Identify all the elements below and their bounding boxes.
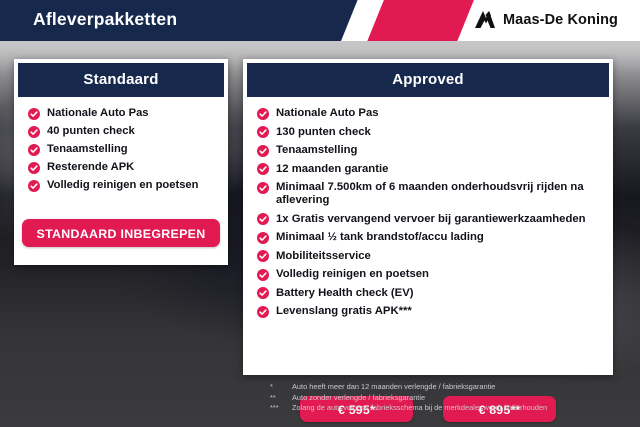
list-item: Resterende APK bbox=[28, 161, 216, 174]
list-item: Nationale Auto Pas bbox=[28, 107, 216, 120]
check-circle-icon bbox=[257, 145, 269, 157]
list-item: Levenslang gratis APK*** bbox=[257, 305, 601, 318]
footnote-double-asterisk: ** Auto zonder verlengde / fabrieksgaran… bbox=[270, 393, 620, 404]
footnote-marker: *** bbox=[270, 403, 292, 414]
feature-label: 12 maanden garantie bbox=[276, 163, 388, 176]
brand-logo: Maas-De Koning bbox=[474, 10, 618, 29]
check-circle-icon bbox=[28, 144, 40, 156]
maas-m-logo-icon bbox=[474, 10, 496, 29]
card-body-standaard: Nationale Auto Pas 40 punten check Tenaa… bbox=[14, 97, 228, 192]
footnote-triple-asterisk: *** Zolang de auto volgens fabrieksschem… bbox=[270, 403, 620, 414]
feature-label: Volledig reinigen en poetsen bbox=[47, 179, 198, 192]
footnote-text: Auto heeft meer dan 12 maanden verlengde… bbox=[292, 382, 495, 393]
feature-label: Minimaal ½ tank brandstof/accu lading bbox=[276, 231, 484, 244]
page-header: Afleverpakketten Maas-De Koning bbox=[0, 0, 640, 41]
footnote-text: Zolang de auto volgens fabrieksschema bi… bbox=[292, 403, 547, 414]
check-circle-icon bbox=[257, 232, 269, 244]
footnotes: * Auto heeft meer dan 12 maanden verleng… bbox=[270, 382, 620, 414]
list-item: Minimaal 7.500km of 6 maanden onderhouds… bbox=[257, 181, 601, 207]
feature-label: Nationale Auto Pas bbox=[276, 107, 379, 120]
check-circle-icon bbox=[28, 162, 40, 174]
check-circle-icon bbox=[257, 250, 269, 262]
feature-label: Battery Health check (EV) bbox=[276, 287, 414, 300]
feature-label: 130 punten check bbox=[276, 126, 371, 139]
feature-label: Levenslang gratis APK*** bbox=[276, 305, 412, 318]
footnote-text: Auto zonder verlengde / fabrieksgarantie bbox=[292, 393, 425, 404]
page-root: Afleverpakketten Maas-De Koning Standaar… bbox=[0, 0, 640, 427]
feature-label: Resterende APK bbox=[47, 161, 134, 174]
list-item: 130 punten check bbox=[257, 126, 601, 139]
feature-list-approved: Nationale Auto Pas 130 punten check Tena… bbox=[257, 107, 601, 318]
list-item: Tenaamstelling bbox=[257, 144, 601, 157]
check-circle-icon bbox=[257, 163, 269, 175]
list-item: 1x Gratis vervangend vervoer bij garanti… bbox=[257, 213, 601, 226]
list-item: Tenaamstelling bbox=[28, 143, 216, 156]
package-card-approved: Approved Nationale Auto Pas 130 punten c… bbox=[243, 59, 613, 375]
feature-list-standaard: Nationale Auto Pas 40 punten check Tenaa… bbox=[28, 107, 216, 192]
header-pink-wedge bbox=[364, 0, 477, 41]
list-item: Mobiliteitsservice bbox=[257, 250, 601, 263]
check-circle-icon bbox=[257, 269, 269, 281]
footnote-marker: * bbox=[270, 382, 292, 393]
check-circle-icon bbox=[257, 126, 269, 138]
standaard-inbegrepen-button[interactable]: STANDAARD INBEGREPEN bbox=[22, 219, 220, 247]
check-circle-icon bbox=[28, 126, 40, 138]
check-circle-icon bbox=[257, 306, 269, 318]
card-title-standaard: Standaard bbox=[18, 63, 224, 97]
list-item: Nationale Auto Pas bbox=[257, 107, 601, 120]
card-title-approved: Approved bbox=[247, 63, 609, 97]
feature-label: Minimaal 7.500km of 6 maanden onderhouds… bbox=[276, 181, 601, 207]
list-item: Volledig reinigen en poetsen bbox=[28, 179, 216, 192]
check-circle-icon bbox=[257, 108, 269, 120]
card-body-approved: Nationale Auto Pas 130 punten check Tena… bbox=[243, 97, 613, 318]
feature-label: Tenaamstelling bbox=[276, 144, 357, 157]
feature-label: Mobiliteitsservice bbox=[276, 250, 371, 263]
check-circle-icon bbox=[257, 213, 269, 225]
feature-label: Volledig reinigen en poetsen bbox=[276, 268, 429, 281]
feature-label: 1x Gratis vervangend vervoer bij garanti… bbox=[276, 213, 586, 226]
feature-label: 40 punten check bbox=[47, 125, 135, 138]
list-item: Volledig reinigen en poetsen bbox=[257, 268, 601, 281]
check-circle-icon bbox=[257, 182, 269, 194]
feature-label: Tenaamstelling bbox=[47, 143, 128, 156]
list-item: 12 maanden garantie bbox=[257, 163, 601, 176]
page-title: Afleverpakketten bbox=[33, 9, 177, 30]
check-circle-icon bbox=[257, 287, 269, 299]
footnote-marker: ** bbox=[270, 393, 292, 404]
list-item: 40 punten check bbox=[28, 125, 216, 138]
brand-name: Maas-De Koning bbox=[503, 12, 618, 28]
feature-label: Nationale Auto Pas bbox=[47, 107, 149, 120]
list-item: Battery Health check (EV) bbox=[257, 287, 601, 300]
list-item: Minimaal ½ tank brandstof/accu lading bbox=[257, 231, 601, 244]
footnote-single-asterisk: * Auto heeft meer dan 12 maanden verleng… bbox=[270, 382, 620, 393]
check-circle-icon bbox=[28, 108, 40, 120]
check-circle-icon bbox=[28, 180, 40, 192]
